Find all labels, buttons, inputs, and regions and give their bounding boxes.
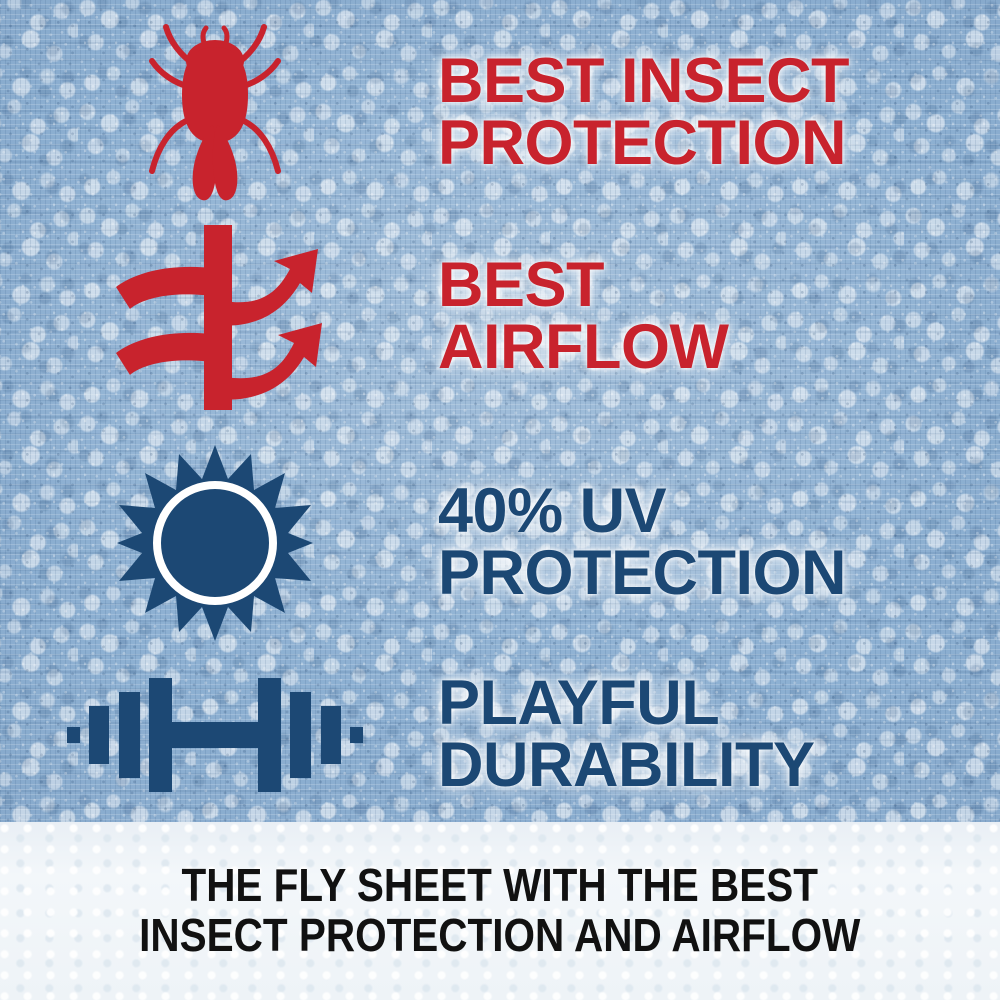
feature-text-cell: BEST AIRFLOW	[430, 255, 1000, 378]
caption-text: THE FLY SHEET WITH THE BEST INSECT PROTE…	[139, 861, 860, 960]
feature-label-durability: PLAYFUL DURABILITY	[438, 673, 1000, 796]
airflow-through-barrier-icon	[108, 225, 323, 410]
feature-label-uv-protection: 40% UV PROTECTION	[438, 481, 1000, 604]
feature-icon-cell	[0, 670, 430, 800]
feature-text-cell: PLAYFUL DURABILITY	[430, 673, 1000, 796]
feature-row-airflow: BEST AIRFLOW	[0, 222, 1000, 412]
feature-icon-cell	[0, 443, 430, 643]
feature-text-cell: 40% UV PROTECTION	[430, 481, 1000, 604]
feature-icon-cell	[0, 225, 430, 410]
feature-icon-cell	[0, 21, 430, 206]
caption-band: THE FLY SHEET WITH THE BEST INSECT PROTE…	[0, 822, 1000, 1000]
feature-row-uv-protection: 40% UV PROTECTION	[0, 438, 1000, 648]
feature-row-insect-protection: BEST INSECT PROTECTION	[0, 18, 1000, 208]
fly-icon	[140, 21, 290, 206]
feature-label-airflow: BEST AIRFLOW	[438, 255, 1000, 378]
infographic-root: BEST INSECT PROTECTION	[0, 0, 1000, 1000]
dumbbell-icon	[65, 670, 365, 800]
feature-label-insect-protection: BEST INSECT PROTECTION	[438, 51, 1000, 174]
feature-text-cell: BEST INSECT PROTECTION	[430, 51, 1000, 174]
feature-row-durability: PLAYFUL DURABILITY	[0, 650, 1000, 820]
sun-uv-icon	[115, 443, 315, 643]
